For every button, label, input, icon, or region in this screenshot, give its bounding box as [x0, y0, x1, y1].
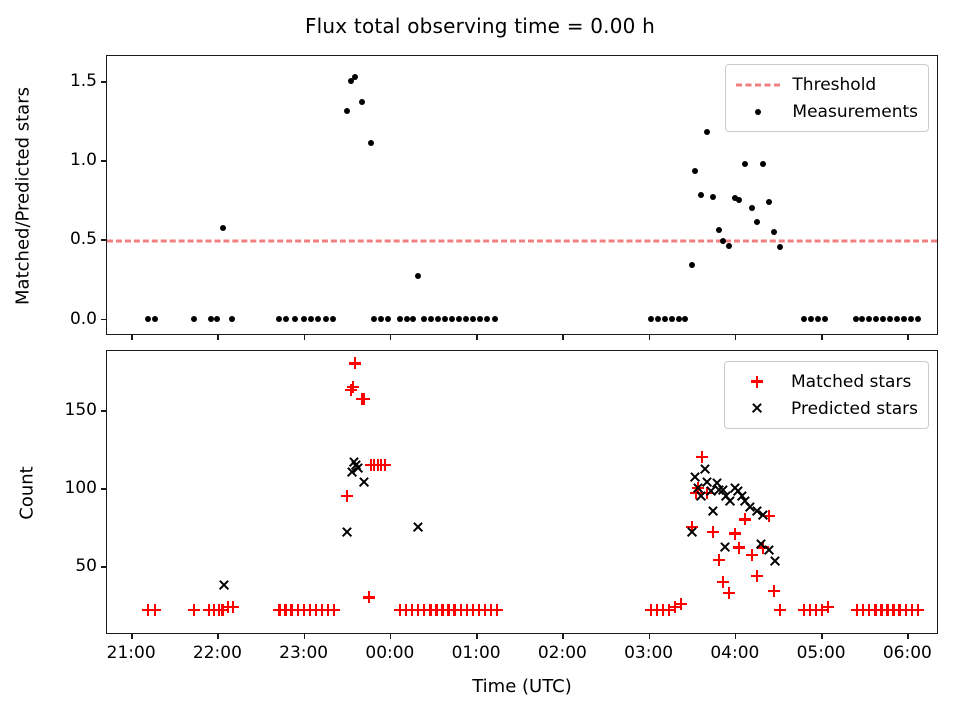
data-point	[749, 205, 755, 211]
x-tick-label: 03:00	[624, 643, 673, 663]
legend-label-threshold: Threshold	[792, 75, 876, 95]
data-point	[344, 108, 350, 114]
plus-marker-icon	[733, 372, 781, 392]
data-point	[689, 262, 695, 268]
data-point	[771, 229, 777, 235]
data-point	[682, 316, 688, 322]
data-point	[692, 168, 698, 174]
y-tick-mark	[101, 488, 107, 490]
data-point	[716, 227, 722, 233]
x-tick-mark	[821, 633, 823, 639]
data-point	[873, 316, 879, 322]
x-tick-mark	[131, 334, 133, 340]
count-plot-axes: Count 5010015021:0022:0023:0000:0001:000…	[106, 350, 938, 634]
y-tick-mark	[101, 160, 107, 162]
data-point	[754, 219, 760, 225]
x-tick-mark	[476, 633, 478, 639]
legend-label-measurements: Measurements	[792, 102, 918, 122]
data-point	[648, 316, 654, 322]
legend-item-matched-stars: Matched stars	[733, 368, 918, 395]
y-tick-label: 1.5	[70, 71, 97, 91]
data-point	[894, 316, 900, 322]
y-tick-label: 0.5	[70, 229, 97, 249]
x-tick-mark	[131, 633, 133, 639]
x-tick-mark	[217, 633, 219, 639]
data-point	[710, 194, 716, 200]
legend-item-measurements: Measurements	[734, 98, 918, 125]
x-tick-label: 02:00	[538, 643, 587, 663]
data-point	[368, 140, 374, 146]
y-tick-mark	[101, 239, 107, 241]
y-tick-mark	[101, 319, 107, 321]
data-point	[456, 316, 462, 322]
data-point	[352, 74, 358, 80]
x-tick-mark	[304, 334, 306, 340]
measurement-dot-icon	[734, 102, 782, 122]
data-point	[853, 316, 859, 322]
x-tick-label: 04:00	[710, 643, 759, 663]
data-point	[191, 316, 197, 322]
data-point	[301, 316, 307, 322]
x-tick-label: 21:00	[107, 643, 156, 663]
x-tick-label: 05:00	[797, 643, 846, 663]
data-point	[742, 161, 748, 167]
data-point	[859, 316, 865, 322]
x-tick-mark	[562, 633, 564, 639]
x-tick-label: 06:00	[883, 643, 932, 663]
x-tick-mark	[907, 334, 909, 340]
data-point	[397, 316, 403, 322]
threshold-line-icon	[734, 75, 782, 95]
x-tick-mark	[649, 334, 651, 340]
data-point	[378, 316, 384, 322]
data-point	[371, 316, 377, 322]
y-tick-mark	[101, 410, 107, 412]
y-tick-label: 150	[65, 400, 97, 420]
data-point	[662, 316, 668, 322]
ratio-plot-axes: Matched/Predicted stars 0.00.51.01.5 Thr…	[106, 55, 938, 335]
data-point	[908, 316, 914, 322]
data-point	[323, 316, 329, 322]
data-point	[698, 192, 704, 198]
x-tick-mark	[304, 633, 306, 639]
y-tick-label: 1.0	[70, 150, 97, 170]
data-point	[880, 316, 886, 322]
data-point	[220, 225, 226, 231]
data-point	[720, 238, 726, 244]
data-point	[726, 243, 732, 249]
data-point	[492, 316, 498, 322]
data-point	[229, 316, 235, 322]
x-tick-mark	[476, 334, 478, 340]
ratio-legend: Threshold Measurements	[725, 64, 929, 132]
data-point	[901, 316, 907, 322]
data-point	[866, 316, 872, 322]
data-point	[421, 316, 427, 322]
y-tick-mark	[101, 566, 107, 568]
data-point	[428, 316, 434, 322]
data-point	[655, 316, 661, 322]
data-point	[777, 244, 783, 250]
x-tick-mark	[562, 334, 564, 340]
data-point	[676, 316, 682, 322]
data-point	[477, 316, 483, 322]
legend-item-threshold: Threshold	[734, 71, 918, 98]
x-tick-label: 23:00	[279, 643, 328, 663]
threshold-line	[107, 240, 937, 243]
data-point	[292, 316, 298, 322]
x-tick-mark	[390, 334, 392, 340]
data-point	[214, 316, 220, 322]
data-point	[449, 316, 455, 322]
data-point	[815, 316, 821, 322]
data-point	[736, 197, 742, 203]
data-point	[283, 316, 289, 322]
data-point	[145, 316, 151, 322]
y-tick-label: 100	[65, 478, 97, 498]
data-point	[915, 316, 921, 322]
y-tick-mark	[101, 81, 107, 83]
x-tick-mark	[217, 334, 219, 340]
figure-title: Flux total observing time = 0.00 h	[0, 14, 960, 38]
count-y-axis-label: Count	[17, 466, 38, 519]
data-point	[766, 199, 772, 205]
y-tick-label: 50	[75, 556, 97, 576]
figure-canvas: Flux total observing time = 0.00 h Match…	[0, 0, 960, 720]
x-tick-mark	[907, 633, 909, 639]
count-legend: Matched stars Predicted stars	[724, 361, 929, 429]
data-point	[152, 316, 158, 322]
data-point	[442, 316, 448, 322]
data-point	[669, 316, 675, 322]
x-tick-label: 01:00	[452, 643, 501, 663]
data-point	[463, 316, 469, 322]
data-point	[315, 316, 321, 322]
x-tick-mark	[735, 334, 737, 340]
x-tick-mark	[735, 633, 737, 639]
x-tick-label: 22:00	[193, 643, 242, 663]
y-tick-label: 0.0	[70, 309, 97, 329]
data-point	[276, 316, 282, 322]
data-point	[435, 316, 441, 322]
data-point	[887, 316, 893, 322]
data-point	[415, 273, 421, 279]
x-tick-label: 00:00	[365, 643, 414, 663]
x-tick-mark	[390, 633, 392, 639]
data-point	[484, 316, 490, 322]
ratio-y-axis-label: Matched/Predicted stars	[13, 87, 34, 305]
legend-label-predicted-stars: Predicted stars	[791, 399, 918, 419]
x-axis-label: Time (UTC)	[106, 676, 938, 697]
data-point	[808, 316, 814, 322]
data-point	[760, 161, 766, 167]
data-point	[410, 316, 416, 322]
legend-label-matched-stars: Matched stars	[791, 372, 911, 392]
legend-item-predicted-stars: Predicted stars	[733, 395, 918, 422]
data-point	[330, 316, 336, 322]
data-point	[385, 316, 391, 322]
x-tick-mark	[821, 334, 823, 340]
data-point	[704, 129, 710, 135]
data-point	[822, 316, 828, 322]
data-point	[308, 316, 314, 322]
cross-marker-icon	[733, 399, 781, 419]
data-point	[801, 316, 807, 322]
data-point	[359, 99, 365, 105]
data-point	[470, 316, 476, 322]
x-tick-mark	[649, 633, 651, 639]
